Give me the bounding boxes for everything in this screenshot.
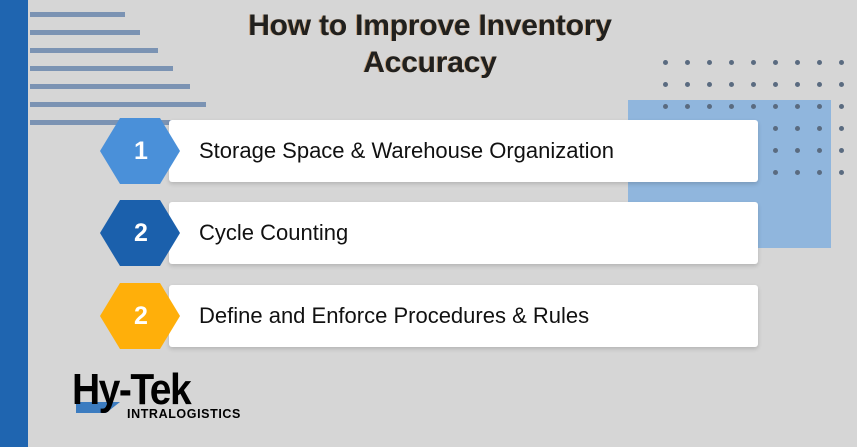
step-label: Cycle Counting <box>169 220 348 246</box>
staircase-line <box>30 102 206 107</box>
grid-dot <box>817 170 822 175</box>
grid-dot <box>839 60 844 65</box>
staircase-line <box>30 48 158 53</box>
left-accent-bar <box>0 0 28 447</box>
logo-subtitle: INTRALOGISTICS <box>127 408 241 421</box>
grid-dot <box>751 82 756 87</box>
list-item[interactable]: Define and Enforce Procedures & Rules 2 <box>100 285 758 347</box>
grid-dot <box>707 60 712 65</box>
logo-wordmark: Hy-Tek <box>72 368 190 412</box>
grid-dot <box>839 104 844 109</box>
step-label: Define and Enforce Procedures & Rules <box>169 303 589 329</box>
list-item[interactable]: Storage Space & Warehouse Organization 1 <box>100 120 758 182</box>
staircase-line <box>30 12 125 17</box>
grid-dot <box>839 170 844 175</box>
grid-dot <box>773 148 778 153</box>
company-logo: Hy-Tek INTRALOGISTICS <box>72 368 252 426</box>
step-number: 2 <box>132 304 148 329</box>
page-title: How to Improve Inventory Accuracy <box>190 8 670 82</box>
step-badge-hexagon: 1 <box>100 118 180 184</box>
grid-dot <box>663 104 668 109</box>
step-card[interactable]: Define and Enforce Procedures & Rules <box>169 285 758 347</box>
grid-dot <box>729 60 734 65</box>
grid-dot <box>685 104 690 109</box>
grid-dot <box>751 104 756 109</box>
step-number: 1 <box>132 139 148 164</box>
infographic-canvas: How to Improve Inventory Accuracy Storag… <box>0 0 857 447</box>
grid-dot <box>795 126 800 131</box>
staircase-line <box>30 30 140 35</box>
grid-dot <box>773 60 778 65</box>
step-badge-hexagon: 2 <box>100 283 180 349</box>
grid-dot <box>817 126 822 131</box>
list-item[interactable]: Cycle Counting 2 <box>100 202 758 264</box>
grid-dot <box>773 126 778 131</box>
grid-dot <box>707 82 712 87</box>
grid-dot <box>795 148 800 153</box>
grid-dot <box>707 104 712 109</box>
grid-dot <box>795 104 800 109</box>
grid-dot <box>663 82 668 87</box>
grid-dot <box>773 82 778 87</box>
step-card[interactable]: Storage Space & Warehouse Organization <box>169 120 758 182</box>
grid-dot <box>839 126 844 131</box>
page-title-line-2: Accuracy <box>190 45 670 82</box>
grid-dot <box>817 104 822 109</box>
grid-dot <box>795 170 800 175</box>
staircase-line <box>30 84 190 89</box>
staircase-line <box>30 66 173 71</box>
step-card[interactable]: Cycle Counting <box>169 202 758 264</box>
step-label: Storage Space & Warehouse Organization <box>169 138 614 164</box>
step-number: 2 <box>132 221 148 246</box>
grid-dot <box>729 104 734 109</box>
step-badge-hexagon: 2 <box>100 200 180 266</box>
grid-dot <box>773 104 778 109</box>
page-title-line-1: How to Improve Inventory <box>190 8 670 45</box>
grid-dot <box>773 170 778 175</box>
grid-dot <box>817 60 822 65</box>
grid-dot <box>817 148 822 153</box>
grid-dot <box>729 82 734 87</box>
grid-dot <box>795 60 800 65</box>
grid-dot <box>839 148 844 153</box>
grid-dot <box>751 60 756 65</box>
grid-dot <box>839 82 844 87</box>
grid-dot <box>685 82 690 87</box>
grid-dot <box>685 60 690 65</box>
grid-dot <box>795 82 800 87</box>
grid-dot <box>817 82 822 87</box>
